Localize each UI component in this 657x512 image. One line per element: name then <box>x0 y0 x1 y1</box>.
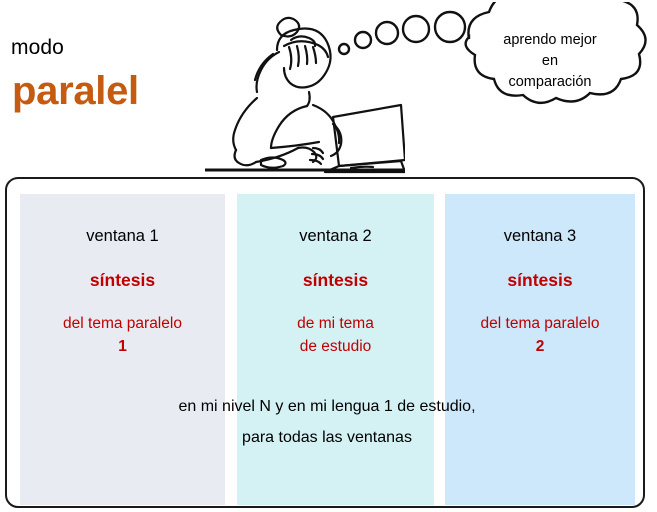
window-column-1[interactable]: ventana 1 síntesis del tema paralelo 1 <box>20 194 225 505</box>
mode-label: modo <box>11 36 64 60</box>
window-column-2[interactable]: ventana 2 síntesis de mi tema de estudio <box>237 194 434 505</box>
synthesis-detail-2-line-1: de mi tema <box>237 312 434 335</box>
synthesis-detail-2: de mi tema de estudio <box>237 312 434 358</box>
synthesis-heading-2: síntesis <box>237 269 434 292</box>
mode-value: paralel <box>12 68 139 114</box>
thought-bubble-line-3: comparación <box>470 72 630 93</box>
parallel-mode-panel: ventana 1 síntesis del tema paralelo 1 v… <box>5 177 645 508</box>
synthesis-detail-3-line-1: del tema paralelo <box>445 312 635 335</box>
synthesis-detail-1: del tema paralelo 1 <box>20 312 225 358</box>
synthesis-heading-1: síntesis <box>20 269 225 292</box>
thought-bubble-text: aprendo mejor en comparación <box>470 30 630 93</box>
thought-bubble-line-1: aprendo mejor <box>470 30 630 51</box>
synthesis-detail-2-line-2: de estudio <box>237 335 434 358</box>
synthesis-heading-3: síntesis <box>445 269 635 292</box>
synthesis-detail-3: del tema paralelo 2 <box>445 312 635 358</box>
synthesis-detail-1-line-2: 1 <box>20 335 225 358</box>
window-label-1: ventana 1 <box>20 225 225 247</box>
header-area: modo paralel <box>0 0 657 177</box>
window-column-3[interactable]: ventana 3 síntesis del tema paralelo 2 <box>445 194 635 505</box>
window-label-3: ventana 3 <box>445 225 635 247</box>
thought-bubble-line-2: en <box>470 51 630 72</box>
thought-cloud-icon: aprendo mejor en comparación <box>330 2 657 142</box>
window-label-2: ventana 2 <box>237 225 434 247</box>
synthesis-detail-3-line-2: 2 <box>445 335 635 358</box>
synthesis-detail-1-line-1: del tema paralelo <box>20 312 225 335</box>
